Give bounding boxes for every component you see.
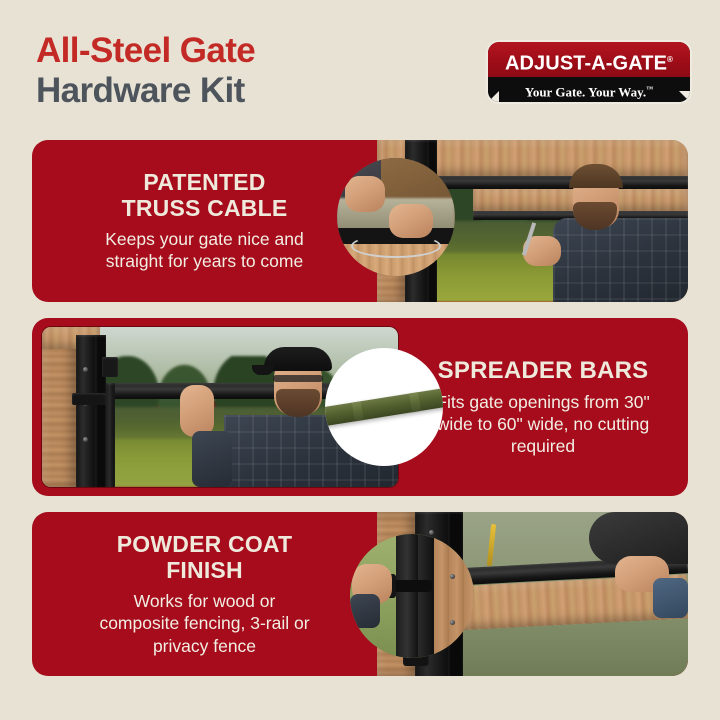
feature-heading: POWDER COAT FINISH bbox=[117, 531, 293, 583]
steel-vertical-member bbox=[106, 383, 115, 487]
inset-wood-post bbox=[434, 534, 474, 658]
feature-panel-powder-coat-finish: POWDER COAT FINISH Works for wood or com… bbox=[32, 512, 688, 676]
header: All-Steel Gate Hardware Kit ADJUST-A-GAT… bbox=[0, 0, 720, 130]
trademark-icon: ™ bbox=[646, 85, 653, 93]
feature-body: Keeps your gate nice and straight for ye… bbox=[105, 228, 303, 272]
inset-hand-right bbox=[389, 204, 433, 238]
inset-hand-left bbox=[345, 176, 385, 212]
bolt-icon bbox=[83, 367, 88, 372]
person-sunglasses bbox=[273, 375, 323, 382]
logo-wordmark: ADJUST-A-GATE® bbox=[488, 42, 690, 77]
inset-bar-joint bbox=[409, 392, 421, 412]
steel-hinge-bracket bbox=[72, 393, 106, 405]
logo-wordmark-text: ADJUST-A-GATE bbox=[505, 53, 667, 75]
registered-trademark-icon: ® bbox=[667, 55, 673, 64]
inset-truss-cable-loop bbox=[351, 234, 441, 258]
inset-steel-post bbox=[396, 534, 418, 658]
feature-text-powder-coat: POWDER COAT FINISH Works for wood or com… bbox=[32, 512, 377, 676]
logo-notch-right bbox=[679, 91, 690, 102]
bolt-icon bbox=[450, 574, 455, 579]
logo-notch-left bbox=[488, 91, 499, 102]
person-sleeve bbox=[192, 431, 232, 487]
bolt-icon bbox=[450, 620, 455, 625]
steel-hinge-pin bbox=[102, 357, 118, 377]
feature-body: Fits gate openings from 30" wide to 60" … bbox=[436, 391, 649, 457]
feature-inset-spreader-bar-closeup bbox=[325, 348, 443, 466]
logo-tagline: Your Gate. Your Way.™ bbox=[488, 77, 690, 102]
feature-heading: PATENTED TRUSS CABLE bbox=[122, 169, 288, 221]
person-cap bbox=[264, 347, 332, 371]
bolt-icon bbox=[83, 437, 88, 442]
feature-heading: SPREADER BARS bbox=[438, 357, 649, 384]
feature-panel-patented-truss-cable: PATENTED TRUSS CABLE Keeps your gate nic… bbox=[32, 140, 688, 302]
inset-latch bbox=[390, 580, 432, 592]
inset-steel-post-edge bbox=[418, 534, 434, 658]
feature-text-truss-cable: PATENTED TRUSS CABLE Keeps your gate nic… bbox=[32, 140, 377, 302]
feature-body: Works for wood or composite fencing, 3-r… bbox=[99, 590, 309, 656]
person-hand bbox=[180, 385, 214, 437]
inset-bar-joint bbox=[352, 401, 364, 421]
wood-post bbox=[42, 327, 76, 487]
page-title-line-1: All-Steel Gate bbox=[36, 33, 255, 68]
inset-sleeve bbox=[350, 594, 380, 628]
inset-spreader-bar bbox=[325, 387, 443, 426]
brand-logo: ADJUST-A-GATE® Your Gate. Your Way.™ bbox=[488, 42, 690, 102]
steel-hinge-column bbox=[76, 335, 96, 487]
logo-tagline-text: Your Gate. Your Way. bbox=[525, 84, 646, 99]
page-title: All-Steel Gate Hardware Kit bbox=[36, 33, 255, 108]
feature-inset-truss-cable-closeup bbox=[337, 158, 455, 276]
person-sleeve bbox=[653, 578, 688, 618]
feature-panel-spreader-bars: SPREADER BARS Fits gate openings from 30… bbox=[32, 318, 688, 496]
feature-inset-latch-closeup bbox=[350, 534, 474, 658]
page-title-line-2: Hardware Kit bbox=[36, 73, 255, 108]
person-torso bbox=[553, 218, 688, 302]
